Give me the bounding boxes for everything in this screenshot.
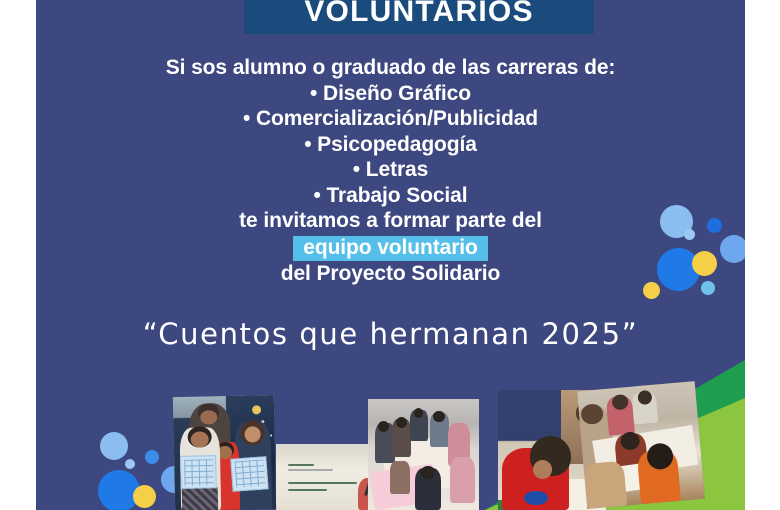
- decorative-dot-icon: [692, 251, 717, 276]
- body-line: • Comercialización/Publicidad: [36, 106, 745, 132]
- decorative-dot-icon: [100, 432, 128, 460]
- photo-person-face: [244, 426, 260, 442]
- title-badge-label: VOLUNTARIOS: [304, 0, 533, 34]
- body-text-block: Si sos alumno o graduado de las carreras…: [36, 55, 745, 286]
- photo-person-face: [533, 460, 552, 479]
- decorative-dot-icon: [643, 282, 660, 299]
- photo-person-head: [396, 417, 407, 428]
- decorative-dot-icon: [145, 450, 159, 464]
- poster-panel: VOLUNTARIOS Si sos alumno o graduado de …: [36, 0, 745, 510]
- highlight-line-wrapper: equipo voluntario: [36, 234, 745, 261]
- decorative-dot-icon: [684, 229, 695, 240]
- photo-poster-artwork: [180, 455, 217, 489]
- body-line: • Psicopedagogía: [36, 132, 745, 158]
- photo-kids-around-table: [577, 381, 705, 509]
- photo-person: [390, 461, 410, 494]
- photo-poster-artwork: [230, 456, 269, 491]
- photo-family-with-posters: [173, 395, 276, 510]
- decorative-dot-icon: [125, 459, 135, 469]
- photo-poster-grid: [184, 459, 213, 485]
- photo-person: [450, 457, 474, 504]
- notebook-line: [288, 489, 328, 491]
- photo-person-head: [433, 411, 444, 422]
- notebook-line: [288, 469, 333, 471]
- title-badge: VOLUNTARIOS: [244, 0, 594, 34]
- photo-shirt-logo: [524, 491, 548, 505]
- photo-poster-grid: [234, 459, 265, 487]
- decorative-dot-icon: [720, 235, 745, 263]
- body-line: te invitamos a formar parte del: [36, 208, 745, 234]
- photo-person-face: [218, 446, 231, 459]
- decorative-dot-icon: [133, 485, 156, 508]
- photo-workshop-tables: [368, 399, 479, 510]
- project-title: “Cuentos que hermanan 2025”: [36, 317, 745, 351]
- body-line: • Diseño Gráfico: [36, 81, 745, 107]
- body-line: • Trabajo Social: [36, 183, 745, 209]
- closing-line: del Proyecto Solidario: [36, 261, 745, 287]
- highlighted-team-label: equipo voluntario: [293, 236, 487, 261]
- poster-canvas: VOLUNTARIOS Si sos alumno o graduado de …: [0, 0, 780, 510]
- photo-person-head: [421, 466, 434, 479]
- photo-clothing: [182, 487, 219, 510]
- body-line: • Letras: [36, 157, 745, 183]
- decorative-dot-icon: [701, 281, 715, 295]
- body-line: Si sos alumno o graduado de las carreras…: [36, 55, 745, 81]
- notebook-line: [288, 482, 357, 484]
- decorative-dot-icon: [707, 218, 722, 233]
- photo-person: [583, 461, 627, 509]
- notebook-line: [288, 464, 314, 466]
